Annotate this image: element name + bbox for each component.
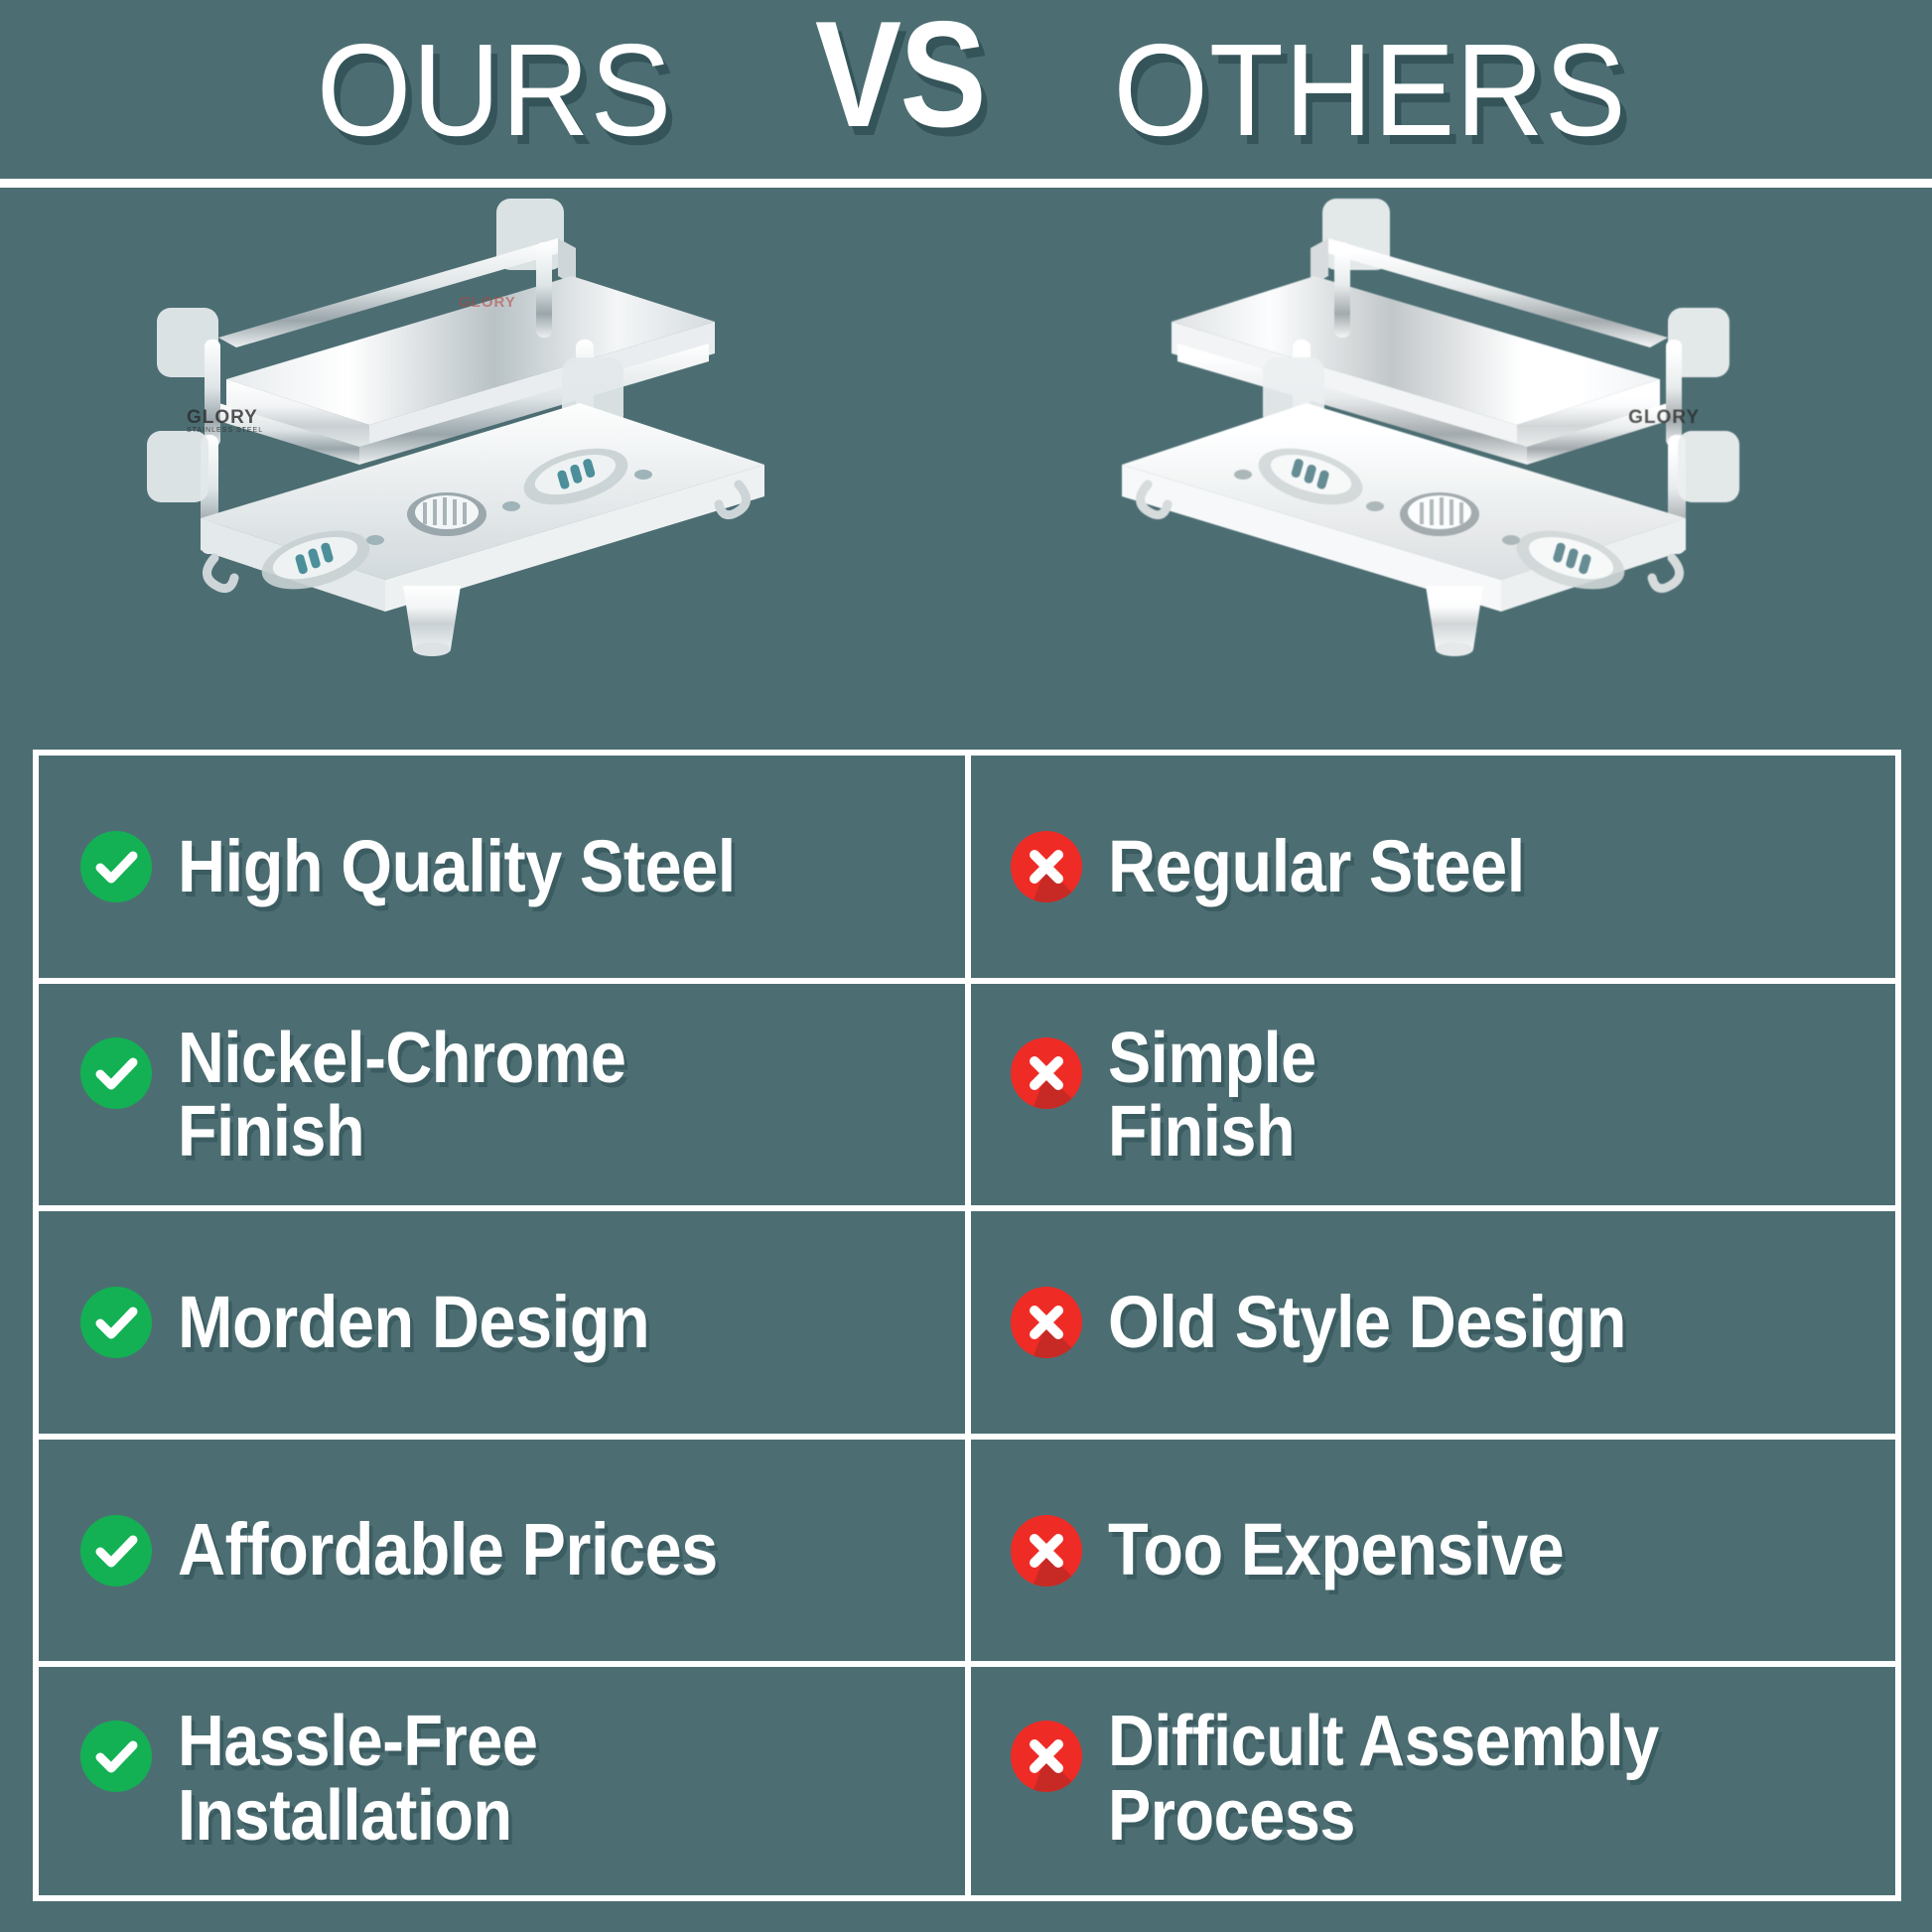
cell-ours: Nickel-Chrome Finish [39,984,971,1206]
product-image-ours: GLORY STAINLESS STEEL GLORY [109,191,963,747]
cell-others: Simple Finish [971,984,1895,1206]
shelf-svg-ours [109,191,963,747]
shelf-illustration-others: GLORY [923,191,1777,747]
cell-label-ours: Hassle-Free Installation [178,1705,537,1854]
cell-others: Too Expensive [971,1440,1895,1662]
cross-circle-icon [1011,1721,1082,1792]
cell-label-ours: High Quality Steel [178,828,736,905]
shelf-illustration-ours: GLORY STAINLESS STEEL GLORY [109,191,963,747]
header-divider-rule [0,179,1932,188]
cell-label-ours: Morden Design [178,1284,649,1361]
cell-label-others: Regular Steel [1108,828,1525,905]
check-circle-icon [80,1037,152,1109]
table-row: Hassle-Free Installation Difficult Assem… [39,1667,1895,1895]
table-row: Affordable Prices Too Expensive [39,1440,1895,1668]
check-circle-icon [80,1721,152,1792]
product-brand-others: GLORY [1628,407,1700,429]
cell-ours: High Quality Steel [39,756,971,978]
table-row: Morden Design Old Style Design [39,1211,1895,1440]
cell-label-others: Simple Finish [1108,1022,1316,1171]
product-image-area: GLORY STAINLESS STEEL GLORY [0,191,1932,747]
cell-ours: Hassle-Free Installation [39,1667,971,1895]
header-label-vs: VS [815,0,985,150]
table-row: High Quality Steel Regular Steel [39,756,1895,984]
cell-label-others: Difficult Assembly Process [1108,1705,1659,1854]
cell-label-others: Old Style Design [1108,1284,1626,1361]
cross-circle-icon [1011,1287,1082,1358]
cell-others: Regular Steel [971,756,1895,978]
comparison-table: High Quality Steel Regular Steel Nickel-… [33,750,1901,1901]
table-row: Nickel-Chrome Finish Simple Finish [39,984,1895,1212]
cell-others: Difficult Assembly Process [971,1667,1895,1895]
cross-circle-icon [1011,831,1082,902]
product-brand-ours: GLORY [187,407,258,429]
comparison-infographic: OURS VS OTHERS [0,0,1932,1932]
cell-ours: Morden Design [39,1211,971,1434]
cell-ours: Affordable Prices [39,1440,971,1662]
cell-label-ours: Nickel-Chrome Finish [178,1022,625,1171]
header-label-ours: OURS [300,25,672,156]
cell-label-ours: Affordable Prices [178,1511,718,1588]
check-circle-icon [80,1287,152,1358]
product-image-others: GLORY [923,191,1777,747]
product-brand-watermark-ours: GLORY [459,294,516,311]
shelf-svg-others [923,191,1777,747]
cross-circle-icon [1011,1037,1082,1109]
check-circle-icon [80,831,152,902]
product-brand-sub-ours: STAINLESS STEEL [187,427,263,434]
cell-others: Old Style Design [971,1211,1895,1434]
header-bar: OURS VS OTHERS [0,0,1932,181]
cross-circle-icon [1011,1515,1082,1587]
cell-label-others: Too Expensive [1108,1511,1564,1588]
header-label-others: OTHERS [1114,25,1627,156]
check-circle-icon [80,1515,152,1587]
